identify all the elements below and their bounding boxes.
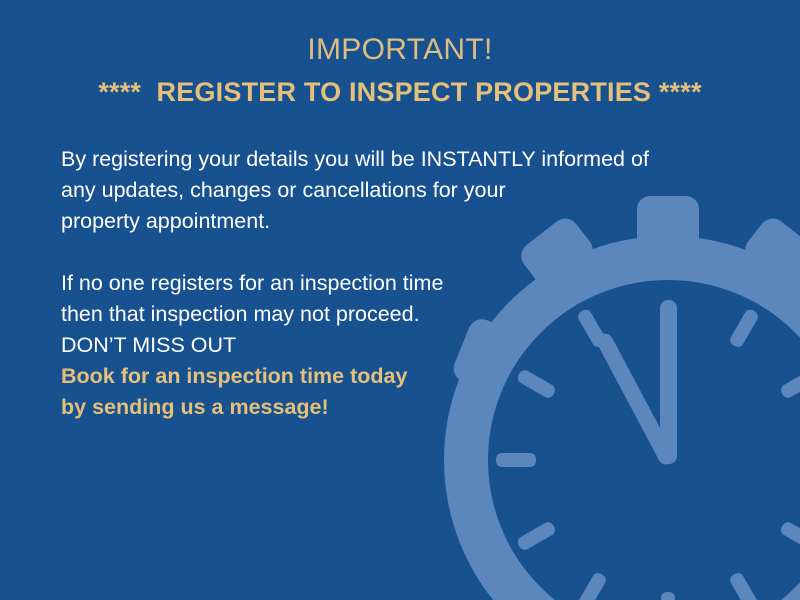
title-register: **** REGISTER TO INSPECT PROPERTIES **** bbox=[0, 74, 800, 110]
heading-block: IMPORTANT! **** REGISTER TO INSPECT PROP… bbox=[0, 30, 800, 110]
paragraph-no-registration-warning: If no one registers for an inspection ti… bbox=[61, 268, 721, 330]
title-important: IMPORTANT! bbox=[0, 30, 800, 70]
slide-canvas: IMPORTANT! **** REGISTER TO INSPECT PROP… bbox=[0, 0, 800, 600]
paragraph-registering-details: By registering your details you will be … bbox=[61, 144, 721, 237]
body-copy: By registering your details you will be … bbox=[61, 144, 721, 423]
cta-book-inspection: Book for an inspection time today by sen… bbox=[61, 361, 721, 423]
cta-block: DON’T MISS OUT Book for an inspection ti… bbox=[61, 330, 721, 423]
cta-dont-miss-out: DON’T MISS OUT bbox=[61, 330, 721, 361]
